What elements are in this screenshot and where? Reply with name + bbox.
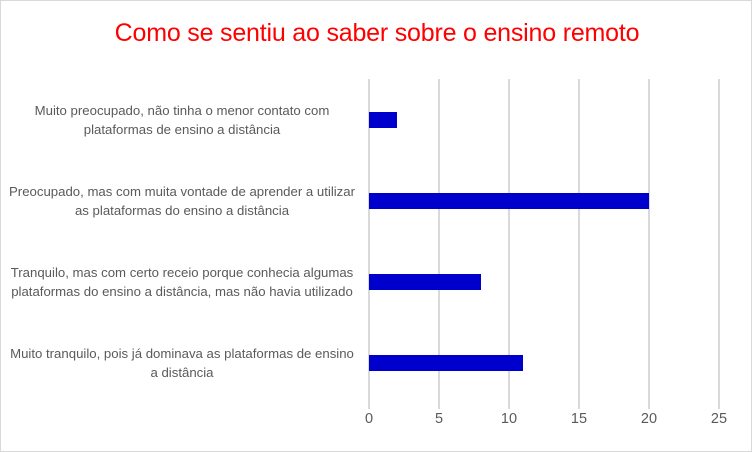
chart-title: Como se sentiu ao saber sobre o ensino r… <box>1 19 752 48</box>
category-label: Preocupado, mas com muita vontade de apr… <box>7 182 357 220</box>
x-tick-label: 5 <box>419 411 459 427</box>
axis-tick <box>648 404 650 409</box>
bar[interactable] <box>369 274 481 290</box>
x-tick-label: 15 <box>559 411 599 427</box>
axis-tick <box>438 404 440 409</box>
axis-tick <box>718 404 720 409</box>
category-label: Tranquilo, mas com certo receio porque c… <box>7 263 357 301</box>
x-tick-label: 25 <box>699 411 739 427</box>
axis-tick <box>368 404 370 409</box>
plot-area <box>369 79 719 404</box>
category-label: Muito tranquilo, pois já dominava as pla… <box>7 344 357 382</box>
axis-tick <box>508 404 510 409</box>
bar[interactable] <box>369 112 397 128</box>
axis-tick <box>578 404 580 409</box>
bar-series <box>369 79 719 404</box>
bar[interactable] <box>369 193 649 209</box>
bar[interactable] <box>369 355 523 371</box>
x-tick-label: 20 <box>629 411 669 427</box>
value-axis-labels: 0510152025 <box>369 411 719 433</box>
x-tick-label: 10 <box>489 411 529 427</box>
chart-container: Como se sentiu ao saber sobre o ensino r… <box>0 0 752 452</box>
x-tick-label: 0 <box>349 411 389 427</box>
category-label: Muito preocupado, não tinha o menor cont… <box>7 101 357 139</box>
category-axis-labels: Muito preocupado, não tinha o menor cont… <box>7 79 363 404</box>
